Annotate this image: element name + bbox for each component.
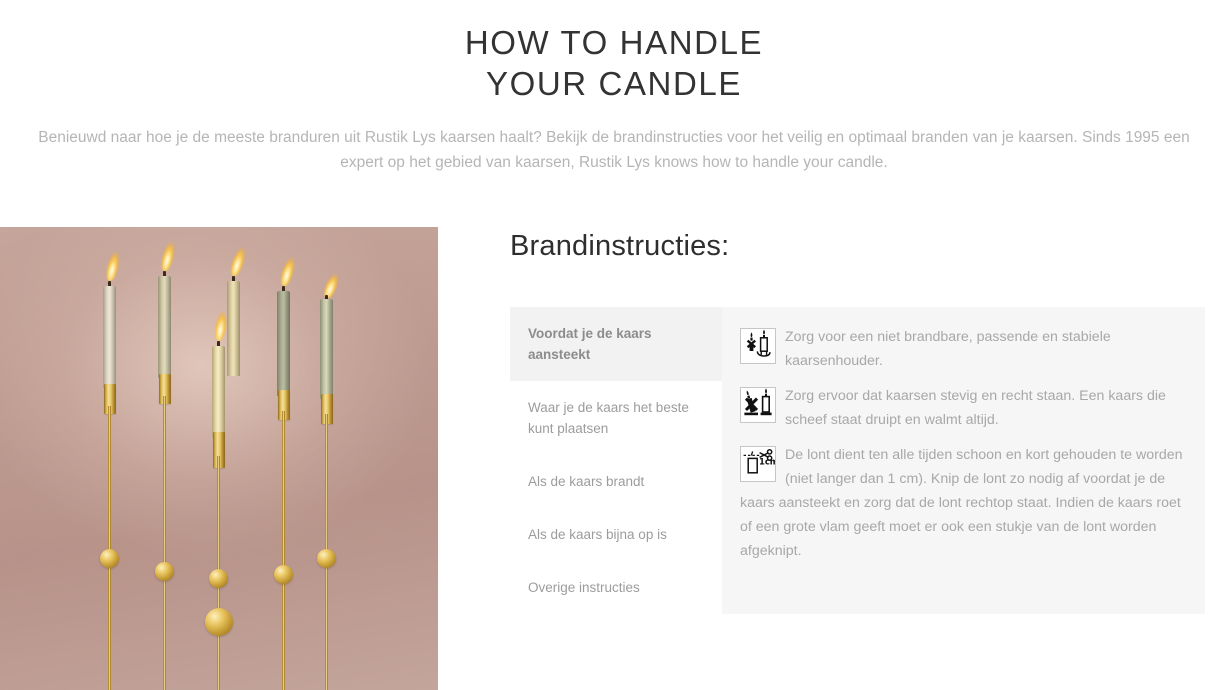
photo-candles bbox=[0, 227, 438, 690]
instruction-text-3: De lont dient ten alle tijden schoon en … bbox=[740, 447, 1183, 559]
holder-rod-1 bbox=[108, 406, 111, 690]
page-title-line-1: HOW TO HANDLE bbox=[264, 22, 964, 63]
wax-6 bbox=[320, 299, 333, 399]
instructions-column: Brandinstructies: Voordat je de kaars aa… bbox=[438, 227, 1228, 614]
svg-text:1cm: 1cm bbox=[759, 457, 775, 467]
tab-overige-instructies[interactable]: Overige instructies bbox=[510, 561, 722, 614]
holder-ball-3b bbox=[205, 608, 233, 636]
holder-rod-5 bbox=[282, 411, 285, 690]
wax-5 bbox=[277, 291, 290, 396]
holder-ball-5 bbox=[274, 565, 293, 584]
tab-waar-je-de-kaars-het-beste-kunt-plaatsen[interactable]: Waar je de kaars het beste kunt plaatsen bbox=[510, 381, 722, 455]
straight-candle-icon bbox=[740, 387, 776, 423]
instructions-heading: Brandinstructies: bbox=[510, 230, 1228, 263]
instructions-panel: Voordat je de kaars aansteekt Waar je de… bbox=[510, 307, 1205, 614]
holder-rod-2 bbox=[163, 396, 166, 690]
instruction-text-2: Zorg ervoor dat kaarsen stevig en recht … bbox=[785, 388, 1166, 428]
page-header: HOW TO HANDLE YOUR CANDLE Benieuwd naar … bbox=[0, 0, 1228, 175]
candle-holder-icon bbox=[740, 328, 776, 364]
instruction-text-1: Zorg voor een niet brandbare, passende e… bbox=[785, 329, 1111, 369]
holder-ball-2 bbox=[155, 562, 174, 581]
tab-voordat-je-de-kaars-aansteekt[interactable]: Voordat je de kaars aansteekt bbox=[510, 307, 722, 381]
holder-ball-1 bbox=[100, 549, 119, 568]
instruction-block-2: Zorg ervoor dat kaarsen stevig en recht … bbox=[740, 384, 1183, 432]
tab-als-de-kaars-bijna-op-is[interactable]: Als de kaars bijna op is bbox=[510, 508, 722, 561]
flame-icon bbox=[278, 242, 301, 287]
instruction-block-1: Zorg voor een niet brandbare, passende e… bbox=[740, 325, 1183, 373]
tab-als-de-kaars-brandt[interactable]: Als de kaars brandt bbox=[510, 455, 722, 508]
flame-icon bbox=[104, 237, 125, 282]
intro-paragraph: Benieuwd naar hoe je de meeste branduren… bbox=[17, 125, 1211, 175]
instruction-block-3: 1cm De lont dient ten alle tijden schoon… bbox=[740, 443, 1183, 563]
page-title: HOW TO HANDLE YOUR CANDLE bbox=[264, 22, 964, 105]
wax-4 bbox=[227, 281, 240, 376]
page-root: HOW TO HANDLE YOUR CANDLE Benieuwd naar … bbox=[0, 0, 1228, 690]
instruction-tab-list: Voordat je de kaars aansteekt Waar je de… bbox=[510, 307, 722, 614]
wax-2 bbox=[158, 276, 171, 378]
flame-icon bbox=[228, 232, 252, 277]
candles-photo bbox=[0, 227, 438, 690]
holder-ball-3 bbox=[209, 569, 228, 588]
holder-ball-6 bbox=[317, 549, 336, 568]
trim-wick-1cm-icon: 1cm bbox=[740, 446, 776, 482]
instruction-tab-content: Zorg voor een niet brandbare, passende e… bbox=[722, 307, 1205, 614]
flame-icon bbox=[159, 227, 180, 272]
wax-1 bbox=[103, 286, 116, 388]
content-split: Brandinstructies: Voordat je de kaars aa… bbox=[0, 227, 1228, 690]
wax-3 bbox=[212, 346, 225, 438]
page-title-line-2: YOUR CANDLE bbox=[264, 63, 964, 104]
